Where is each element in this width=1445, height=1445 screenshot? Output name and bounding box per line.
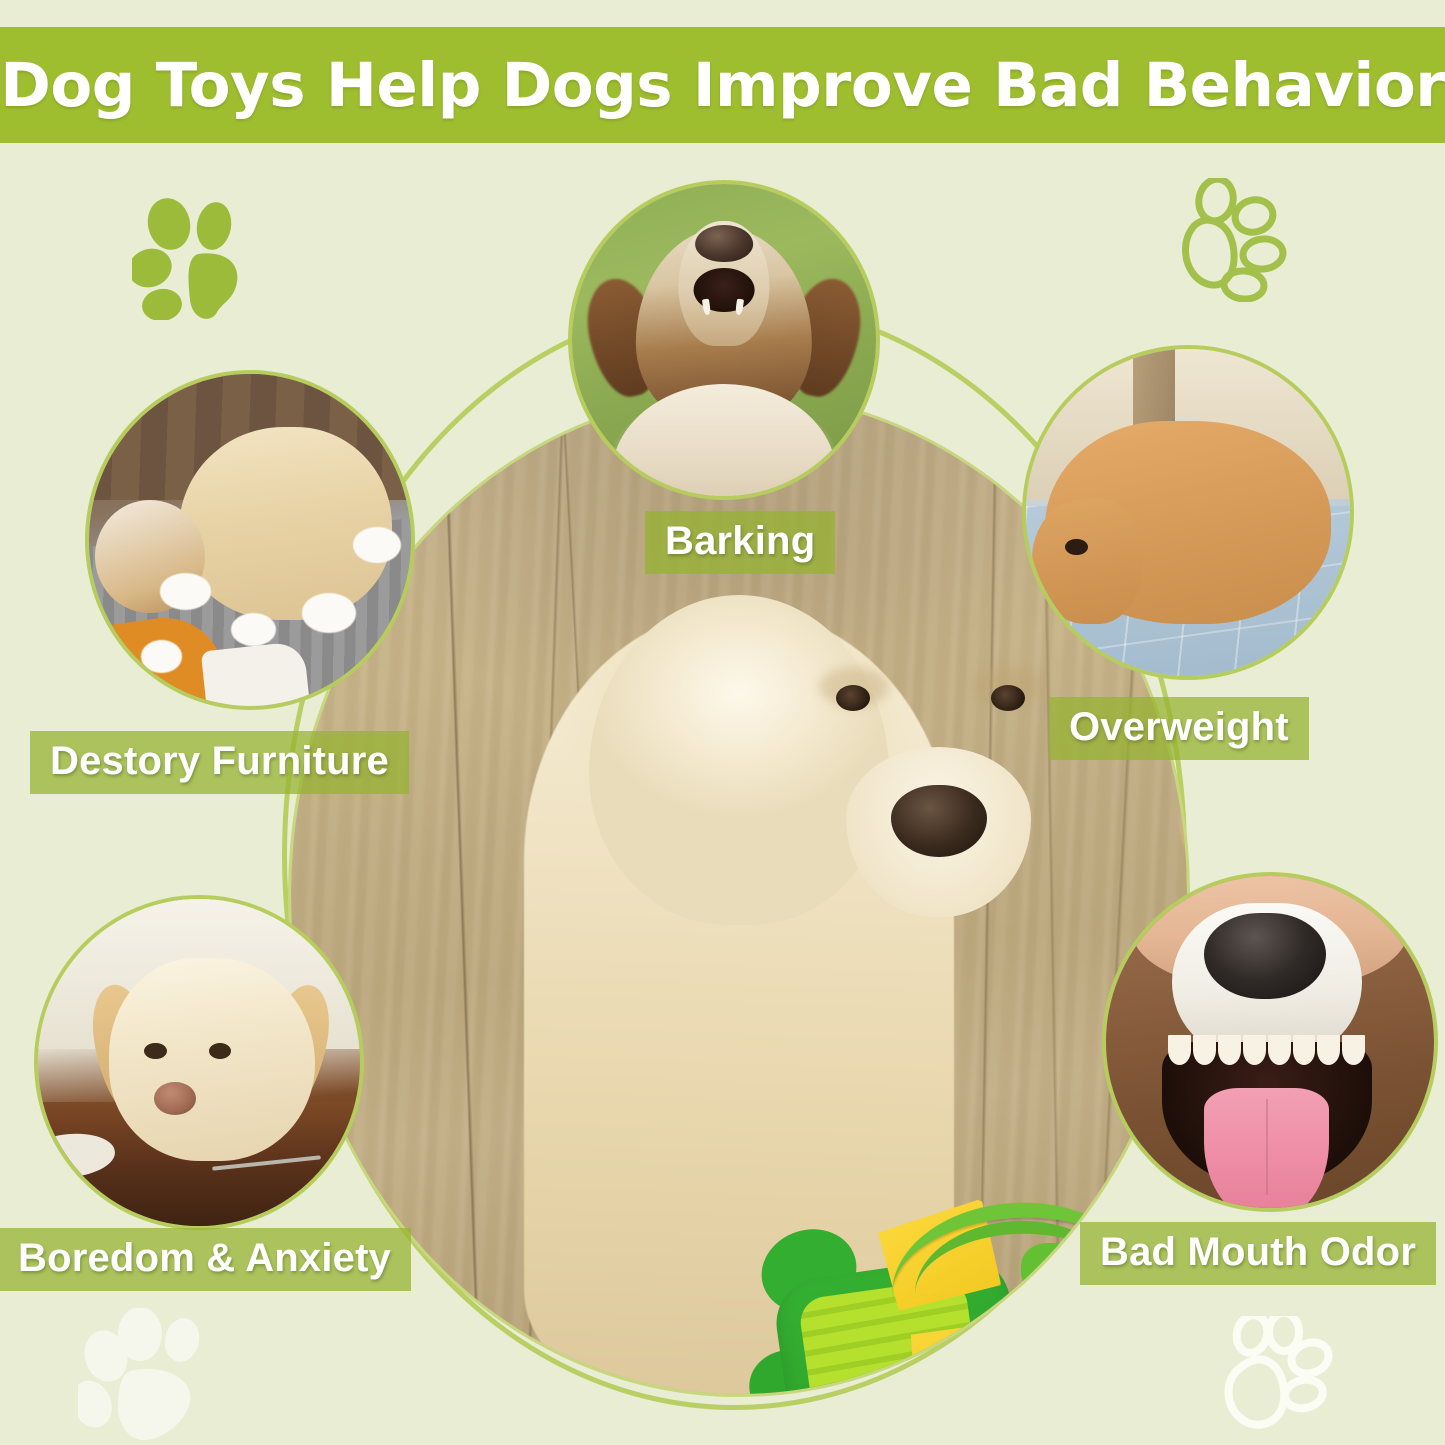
stuffing-tuft (141, 640, 183, 673)
furniture-dog-large (179, 427, 392, 620)
overweight-dog-head (1032, 499, 1142, 623)
infographic-poster: Dog Toys Help Dogs Improve Bad Behavior (0, 0, 1445, 1445)
stuffing-tuft (231, 613, 276, 646)
white-cloth (201, 641, 312, 710)
label-overweight: Overweight (1049, 697, 1309, 760)
boredom-anxiety-photo (38, 899, 360, 1226)
odor-dog-teeth (1168, 1035, 1365, 1065)
dog-eye-left (836, 685, 870, 711)
barking-photo (572, 184, 876, 496)
dog-eye-right (991, 685, 1025, 711)
paw-print-icon-bottom-right (1222, 1316, 1352, 1445)
boredom-dog-head (109, 958, 315, 1161)
page-title: Dog Toys Help Dogs Improve Bad Behavior (0, 50, 1445, 121)
odor-dog-nose (1204, 913, 1325, 999)
photo-circle-boredom-anxiety (34, 895, 364, 1230)
boredom-dog-eye-left (144, 1043, 167, 1059)
paw-print-icon-top-left (132, 198, 250, 320)
barking-dog-chest (612, 384, 837, 500)
label-destory-furniture: Destory Furniture (30, 731, 409, 794)
photo-circle-barking (568, 180, 880, 500)
title-banner: Dog Toys Help Dogs Improve Bad Behavior (0, 27, 1445, 143)
toy-rope-knot (1021, 1243, 1087, 1299)
photo-circle-bad-mouth-odor (1102, 872, 1438, 1212)
label-bad-mouth-odor: Bad Mouth Odor (1080, 1222, 1436, 1285)
label-barking: Barking (645, 511, 835, 574)
destory-furniture-photo (89, 374, 411, 706)
barking-dog-nose (695, 225, 753, 262)
boredom-dog-nose (154, 1082, 196, 1115)
bad-mouth-odor-photo (1106, 876, 1434, 1208)
paw-print-icon-bottom-left (78, 1308, 208, 1443)
photo-circle-destory-furniture (85, 370, 415, 710)
overweight-dog-eye (1065, 539, 1088, 555)
label-boredom-anxiety: Boredom & Anxiety (0, 1228, 411, 1291)
overweight-photo (1026, 349, 1350, 676)
stuffing-tuft (160, 573, 212, 610)
photo-circle-overweight (1022, 345, 1354, 680)
stuffing-tuft (302, 593, 357, 633)
paw-print-icon-top-right (1178, 178, 1298, 302)
odor-dog-tongue (1204, 1088, 1329, 1212)
